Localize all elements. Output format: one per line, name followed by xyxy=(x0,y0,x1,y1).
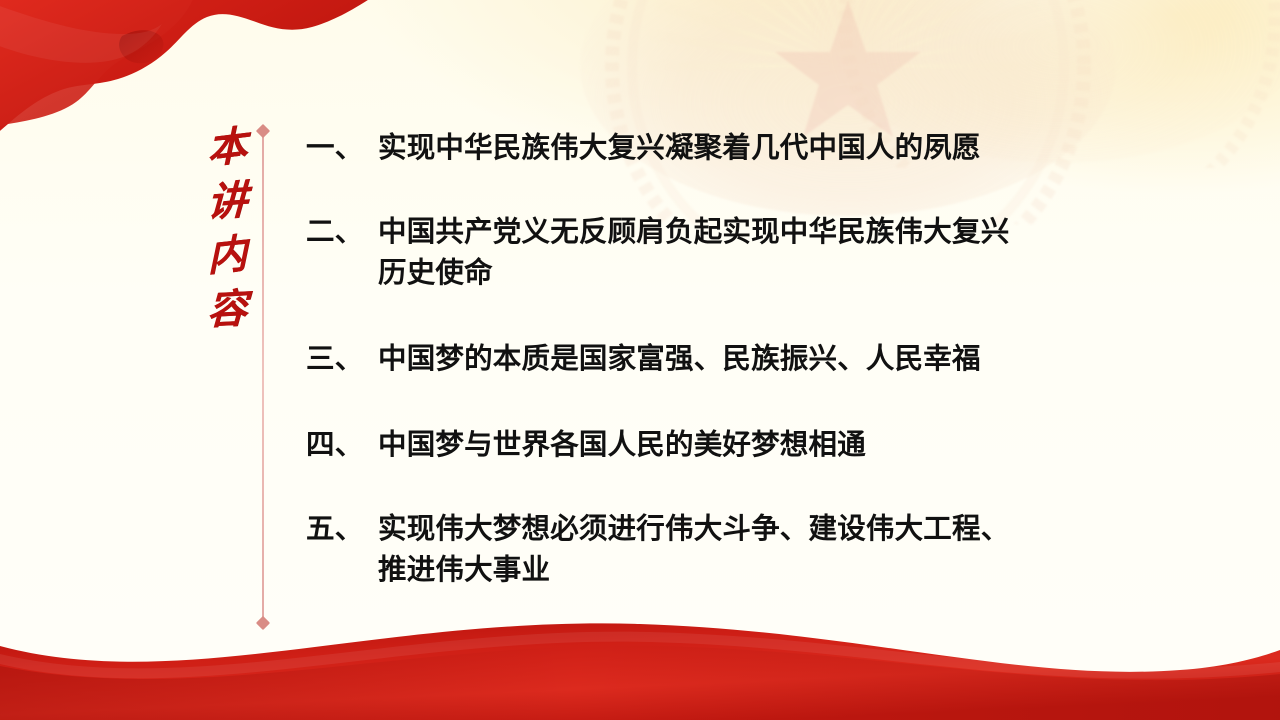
agenda-item-3: 三、 中国梦的本质是国家富强、民族振兴、人民幸福 xyxy=(306,339,1126,379)
vertical-title-char-3: 内 xyxy=(206,234,247,278)
agenda-item-2-text: 中国共产党义无反顾肩负起实现中华民族伟大复兴 历史使命 xyxy=(378,212,1126,293)
vertical-title-char-2: 讲 xyxy=(206,181,247,224)
vertical-divider xyxy=(262,131,264,623)
agenda-item-5-number: 五、 xyxy=(306,509,378,549)
agenda-item-4-line-1: 中国梦与世界各国人民的美好梦想相通 xyxy=(378,429,866,461)
agenda-item-1-line-1: 实现中华民族伟大复兴凝聚着几代中国人的夙愿 xyxy=(378,132,981,164)
agenda-item-2-number: 二、 xyxy=(306,212,378,252)
agenda-item-4-number: 四、 xyxy=(306,425,378,465)
agenda-item-2-line-1: 中国共产党义无反顾肩负起实现中华民族伟大复兴 xyxy=(378,216,1009,248)
agenda-list: 一、 实现中华民族伟大复兴凝聚着几代中国人的夙愿 二、 中国共产党义无反顾肩负起… xyxy=(306,128,1126,590)
agenda-item-2: 二、 中国共产党义无反顾肩负起实现中华民族伟大复兴 历史使命 xyxy=(306,212,1126,293)
vertical-title-char-4: 容 xyxy=(206,289,247,331)
agenda-item-5: 五、 实现伟大梦想必须进行伟大斗争、建设伟大工程、 推进伟大事业 xyxy=(306,509,1126,590)
slide-canvas: 本 讲 内 容 一、 实现中华民族伟大复兴凝聚着几代中国人的夙愿 二、 中国共产… xyxy=(0,0,1280,720)
agenda-item-3-line-1: 中国梦的本质是国家富强、民族振兴、人民幸福 xyxy=(378,343,981,375)
vertical-title-char-1: 本 xyxy=(206,125,247,170)
agenda-item-4: 四、 中国梦与世界各国人民的美好梦想相通 xyxy=(306,425,1126,465)
agenda-item-3-text: 中国梦的本质是国家富强、民族振兴、人民幸福 xyxy=(378,339,1126,379)
agenda-item-1: 一、 实现中华民族伟大复兴凝聚着几代中国人的夙愿 xyxy=(306,128,1126,168)
agenda-item-4-text: 中国梦与世界各国人民的美好梦想相通 xyxy=(378,425,1126,465)
agenda-item-2-line-2: 历史使命 xyxy=(378,253,1126,293)
agenda-item-1-text: 实现中华民族伟大复兴凝聚着几代中国人的夙愿 xyxy=(378,128,1126,168)
red-wave-ribbon-icon xyxy=(0,610,1280,720)
section-vertical-title: 本 讲 内 容 xyxy=(196,128,258,330)
agenda-item-5-text: 实现伟大梦想必须进行伟大斗争、建设伟大工程、 推进伟大事业 xyxy=(378,509,1126,590)
agenda-item-1-number: 一、 xyxy=(306,128,378,168)
agenda-item-5-line-1: 实现伟大梦想必须进行伟大斗争、建设伟大工程、 xyxy=(378,513,1009,545)
agenda-item-5-line-2: 推进伟大事业 xyxy=(378,550,1126,590)
agenda-item-3-number: 三、 xyxy=(306,339,378,379)
